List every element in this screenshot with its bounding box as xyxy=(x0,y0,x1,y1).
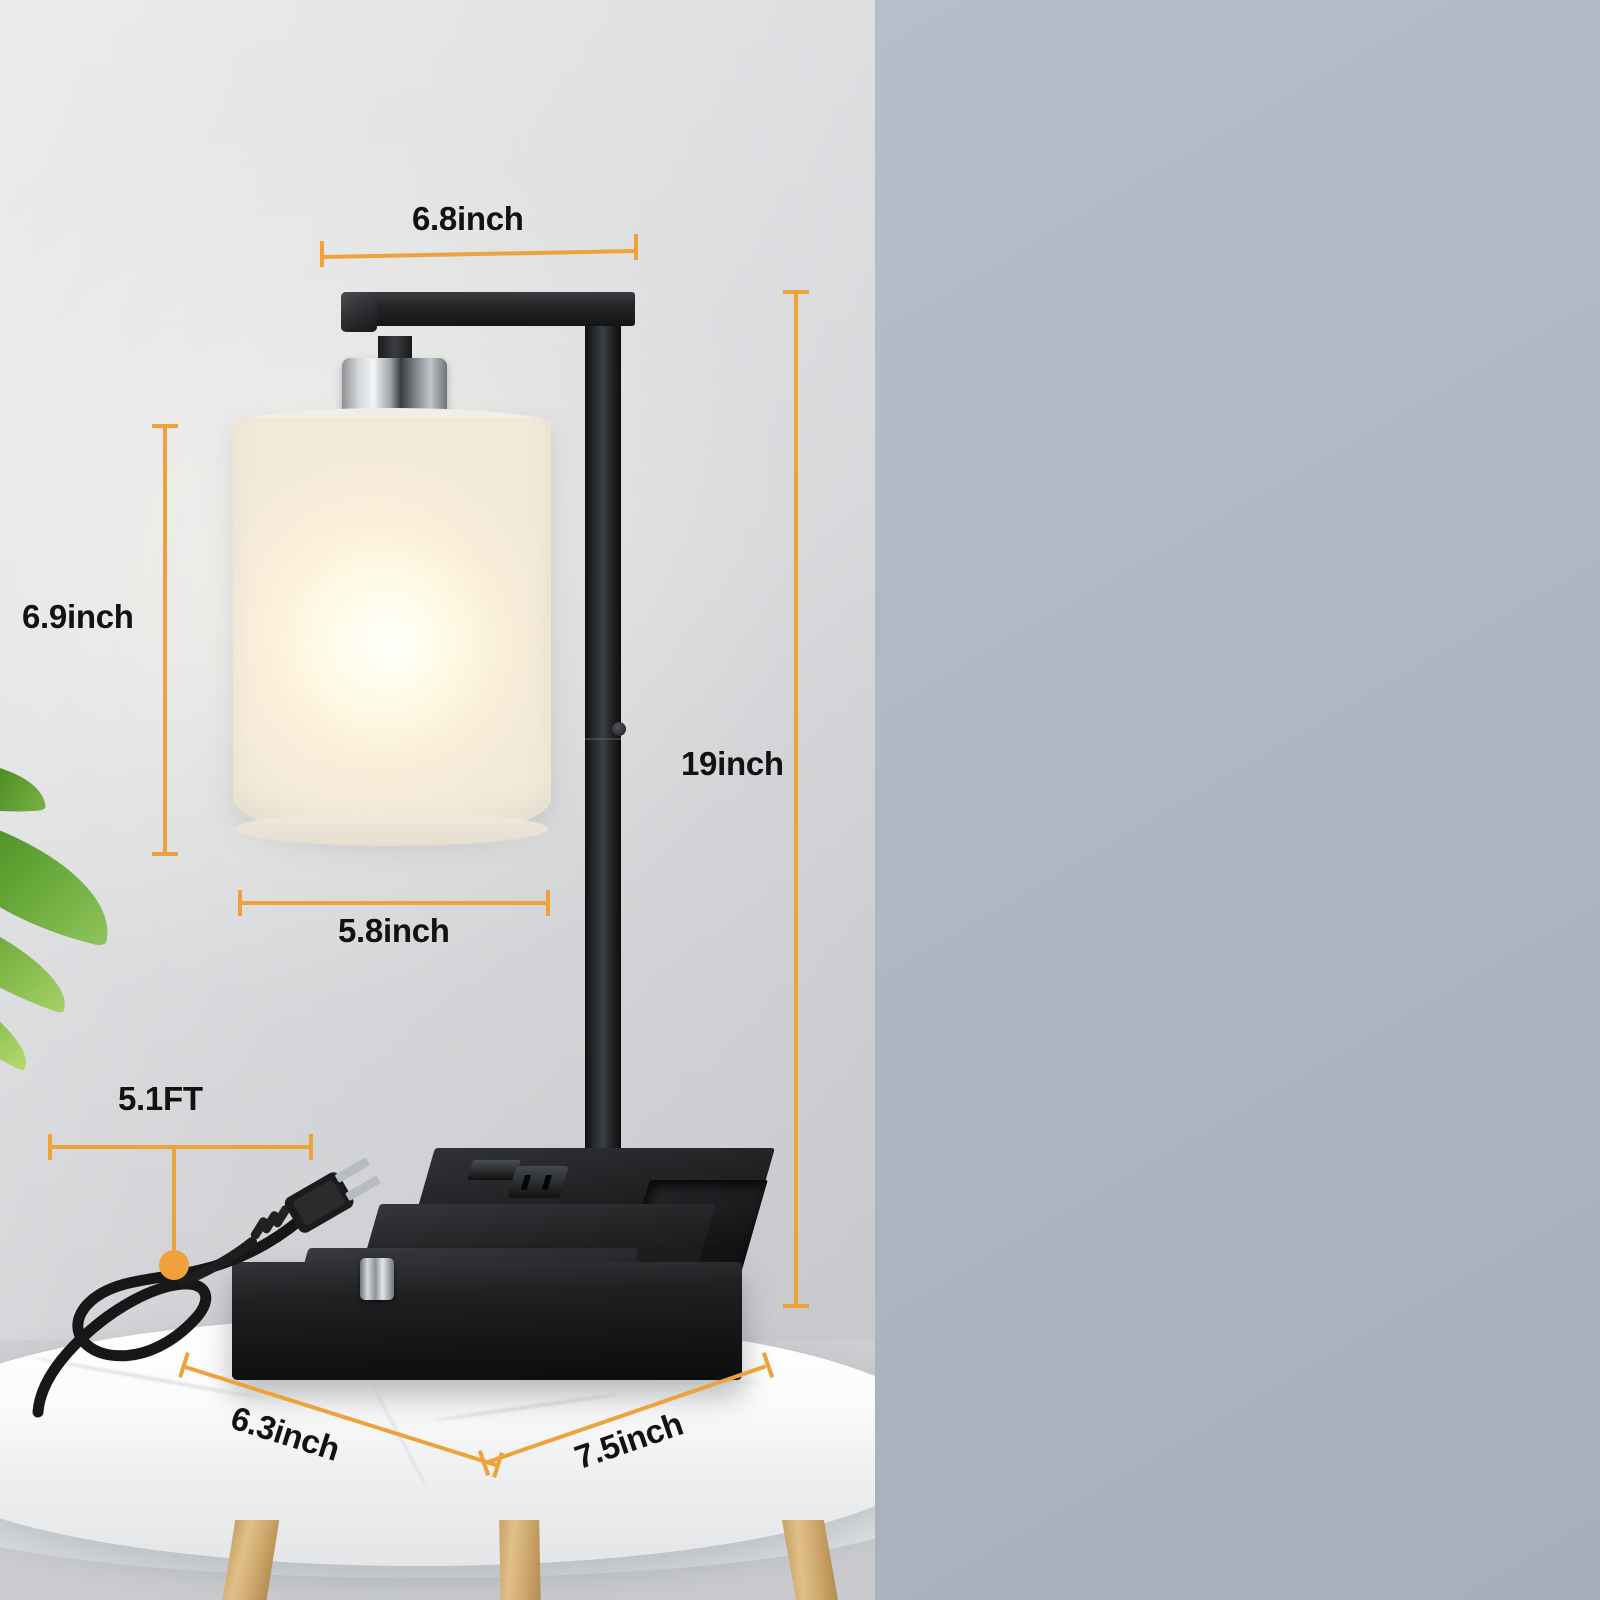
product-photo-panel: 6.8inch 6.9inch 5.8inch 19inch 5.1FT 6.3… xyxy=(0,0,875,1600)
specifications-panel: Specifications LED Bulb: Included Base T… xyxy=(875,0,1600,1600)
dimension-cap xyxy=(783,290,809,294)
table-leg xyxy=(499,1520,541,1600)
dimension-cap xyxy=(320,241,324,267)
lamp-post-seam xyxy=(585,738,621,740)
lamp-arm xyxy=(341,292,635,326)
ac-outlet-icon xyxy=(507,1166,568,1198)
dimension-label-shade-height: 6.9inch xyxy=(22,598,134,636)
dimension-label-lamp-height: 19inch xyxy=(681,745,784,783)
dimension-cap xyxy=(152,852,178,856)
lamp-post xyxy=(585,300,621,1200)
dimension-cap xyxy=(238,890,242,916)
dimension-label-shade-width: 5.8inch xyxy=(338,912,450,950)
bulb-glow xyxy=(268,520,518,770)
product-spec-sheet: 6.8inch 6.9inch 5.8inch 19inch 5.1FT 6.3… xyxy=(0,0,1600,1600)
dimension-label-shade-top-width: 6.8inch xyxy=(412,200,524,238)
power-cord xyxy=(0,1150,420,1450)
screw-icon xyxy=(612,722,626,736)
shade-bottom-rim xyxy=(236,812,548,846)
dimension-cap xyxy=(48,1134,52,1160)
dimension-line-shade-height xyxy=(163,424,167,856)
dimension-line-lamp-height xyxy=(794,290,798,1308)
dimension-line-shade-width xyxy=(238,901,550,905)
dimension-cap xyxy=(783,1304,809,1308)
dimension-cap xyxy=(152,424,178,428)
dimension-label-cord-length: 5.1FT xyxy=(118,1080,203,1118)
dimension-cap xyxy=(634,234,638,260)
dimension-anchor-dot xyxy=(159,1250,189,1280)
dimension-cap xyxy=(546,890,550,916)
dimension-leader-cord xyxy=(172,1145,176,1260)
dimension-cap xyxy=(309,1134,313,1160)
lamp-arm-cap xyxy=(341,292,377,332)
dimension-line-cord-length xyxy=(48,1145,313,1149)
